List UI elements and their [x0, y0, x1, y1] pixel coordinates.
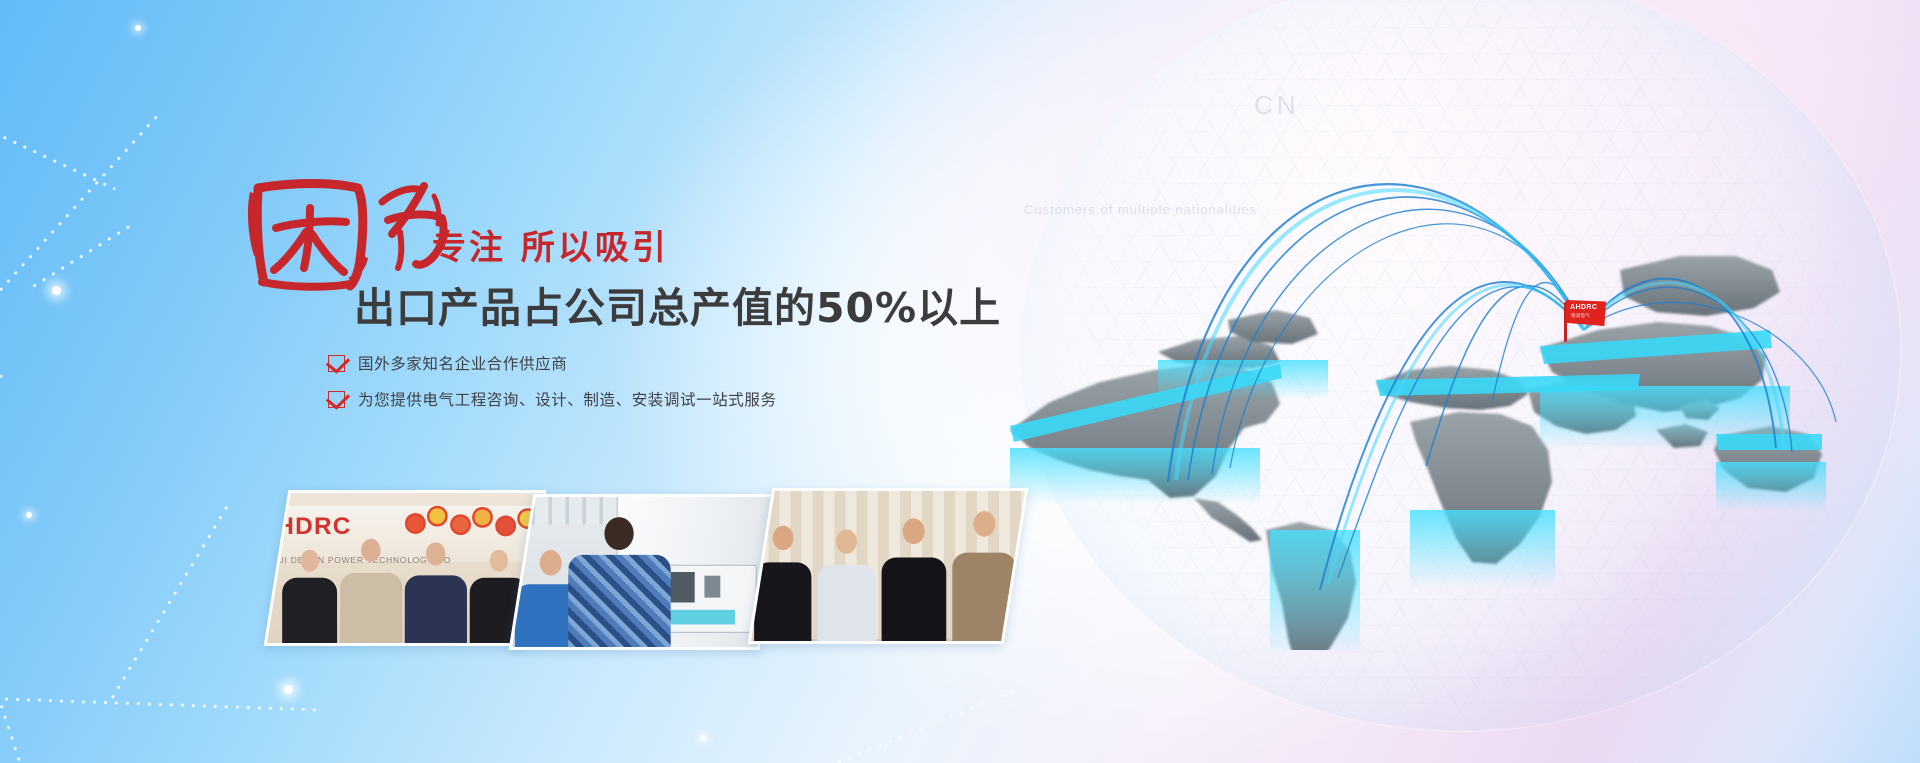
landmass-siberia	[1620, 256, 1780, 316]
dot-line	[29, 224, 132, 290]
flag-brand-text: AHDRC	[1570, 304, 1597, 311]
ghost-label-body: Customers of multiple nationalities	[1024, 202, 1257, 217]
flag-pole	[1564, 302, 1567, 342]
seal-row: 专注 所以吸引 出口产品占公司总产值的50%以上	[240, 176, 1000, 294]
photo-2-content	[509, 494, 785, 650]
landmass-north-america	[1010, 364, 1280, 498]
world-globe: CN Customers of multiple nationalities A…	[980, 30, 1920, 650]
photo-team-four[interactable]	[748, 488, 1029, 644]
dot-line	[0, 115, 158, 303]
glow-node	[284, 685, 293, 694]
landmass-philippines	[1680, 400, 1720, 420]
dot-line	[0, 374, 3, 521]
route-arc	[1188, 197, 1584, 480]
route-arc	[1584, 279, 1776, 448]
banner-root: CN Customers of multiple nationalities A…	[0, 0, 1920, 763]
coast-edge-glow	[1010, 364, 1282, 442]
ghost-label-cn: CN	[1254, 90, 1300, 121]
bullet-label: 国外多家知名企业合作供应商	[358, 352, 567, 374]
route-arc	[1584, 287, 1792, 452]
route-arc	[1492, 283, 1584, 402]
landmass-africa	[1410, 412, 1552, 564]
photo-1-person	[282, 550, 337, 646]
dot-line	[0, 697, 320, 712]
coast-edge-glow	[1376, 374, 1640, 396]
dot-line	[0, 120, 116, 190]
dot-line	[109, 504, 230, 703]
checkbox-checked-icon	[328, 391, 345, 408]
trade-route-arcs	[980, 30, 1920, 650]
landmass-central-america	[1194, 498, 1262, 542]
photo-3-person	[818, 529, 876, 644]
coast-glow	[1716, 462, 1826, 512]
photo-3-person	[754, 526, 812, 644]
photo-1-banner-brand: AHDRC	[264, 513, 352, 541]
photo-engineers-cabinet[interactable]	[509, 494, 785, 650]
flag-cloth	[1566, 300, 1606, 326]
photo-2-person	[569, 517, 671, 650]
globe-sphere	[1020, 0, 1900, 730]
landmass-west-asia	[1528, 380, 1636, 434]
coast-glow	[1410, 510, 1555, 588]
copy-block: 专注 所以吸引 出口产品占公司总产值的50%以上 国外多家知名企业合作供应商 为…	[240, 176, 1000, 294]
dot-line	[629, 688, 1020, 763]
landmass-greenland	[1228, 310, 1318, 344]
glow-node	[700, 735, 706, 741]
route-arc-glow	[1176, 190, 1584, 480]
glow-node	[26, 512, 32, 518]
tagline: 专注 所以吸引	[432, 220, 669, 269]
landmass-europe	[1376, 366, 1528, 410]
route-arc	[1212, 209, 1584, 474]
photo-strip: AHDRC ANHUI DERUN POWER TECHNOLOGY CO	[276, 490, 1066, 655]
coast-edge-glow	[1716, 434, 1822, 450]
route-arc	[1338, 287, 1584, 578]
landmass-australia	[1714, 426, 1822, 492]
checkbox-checked-icon	[328, 355, 345, 372]
landmass-indonesia	[1656, 424, 1708, 448]
dot-line	[0, 701, 51, 763]
feature-bullet-list: 国外多家知名企业合作供应商 为您提供电气工程咨询、设计、制造、安装调试一站式服务	[328, 352, 777, 424]
photo-1-content: AHDRC ANHUI DERUN POWER TECHNOLOGY CO	[264, 490, 547, 646]
coast-glow	[1158, 360, 1328, 400]
globe-hex-mesh	[1020, 0, 1900, 730]
landmass-south-america	[1266, 522, 1356, 650]
landmass-asia	[1540, 322, 1766, 412]
photo-1-person	[340, 539, 401, 646]
coast-glow	[1540, 386, 1790, 450]
globe-rim	[1020, 0, 1902, 732]
photo-3-person	[882, 518, 946, 644]
landmass-canada-north	[1158, 336, 1280, 368]
coast-glow	[1270, 530, 1360, 650]
route-arc	[1584, 302, 1836, 422]
route-arc	[1426, 286, 1584, 466]
route-arc	[1168, 184, 1584, 482]
route-arc	[1230, 224, 1584, 468]
china-flag-marker: AHDRC 德润电气	[1562, 298, 1608, 342]
photo-delegation-group[interactable]: AHDRC ANHUI DERUN POWER TECHNOLOGY CO	[264, 490, 547, 646]
photo-3-person	[952, 511, 1016, 644]
list-item: 国外多家知名企业合作供应商	[328, 352, 777, 374]
route-arc-glow	[1584, 283, 1784, 450]
route-arc	[1320, 282, 1584, 590]
coast-edge-glow	[1540, 330, 1772, 364]
glow-node	[135, 25, 141, 31]
flag-brand-subtext: 德润电气	[1571, 313, 1590, 319]
route-arc-glow	[1328, 285, 1584, 584]
headline: 出口产品占公司总产值的50%以上	[354, 274, 1001, 334]
world-map-svg	[980, 30, 1920, 650]
photo-3-content	[748, 488, 1029, 644]
glow-node	[52, 286, 61, 295]
bullet-label: 为您提供电气工程咨询、设计、制造、安装调试一站式服务	[358, 388, 777, 410]
photo-1-person	[405, 542, 466, 646]
list-item: 为您提供电气工程咨询、设计、制造、安装调试一站式服务	[328, 388, 777, 410]
